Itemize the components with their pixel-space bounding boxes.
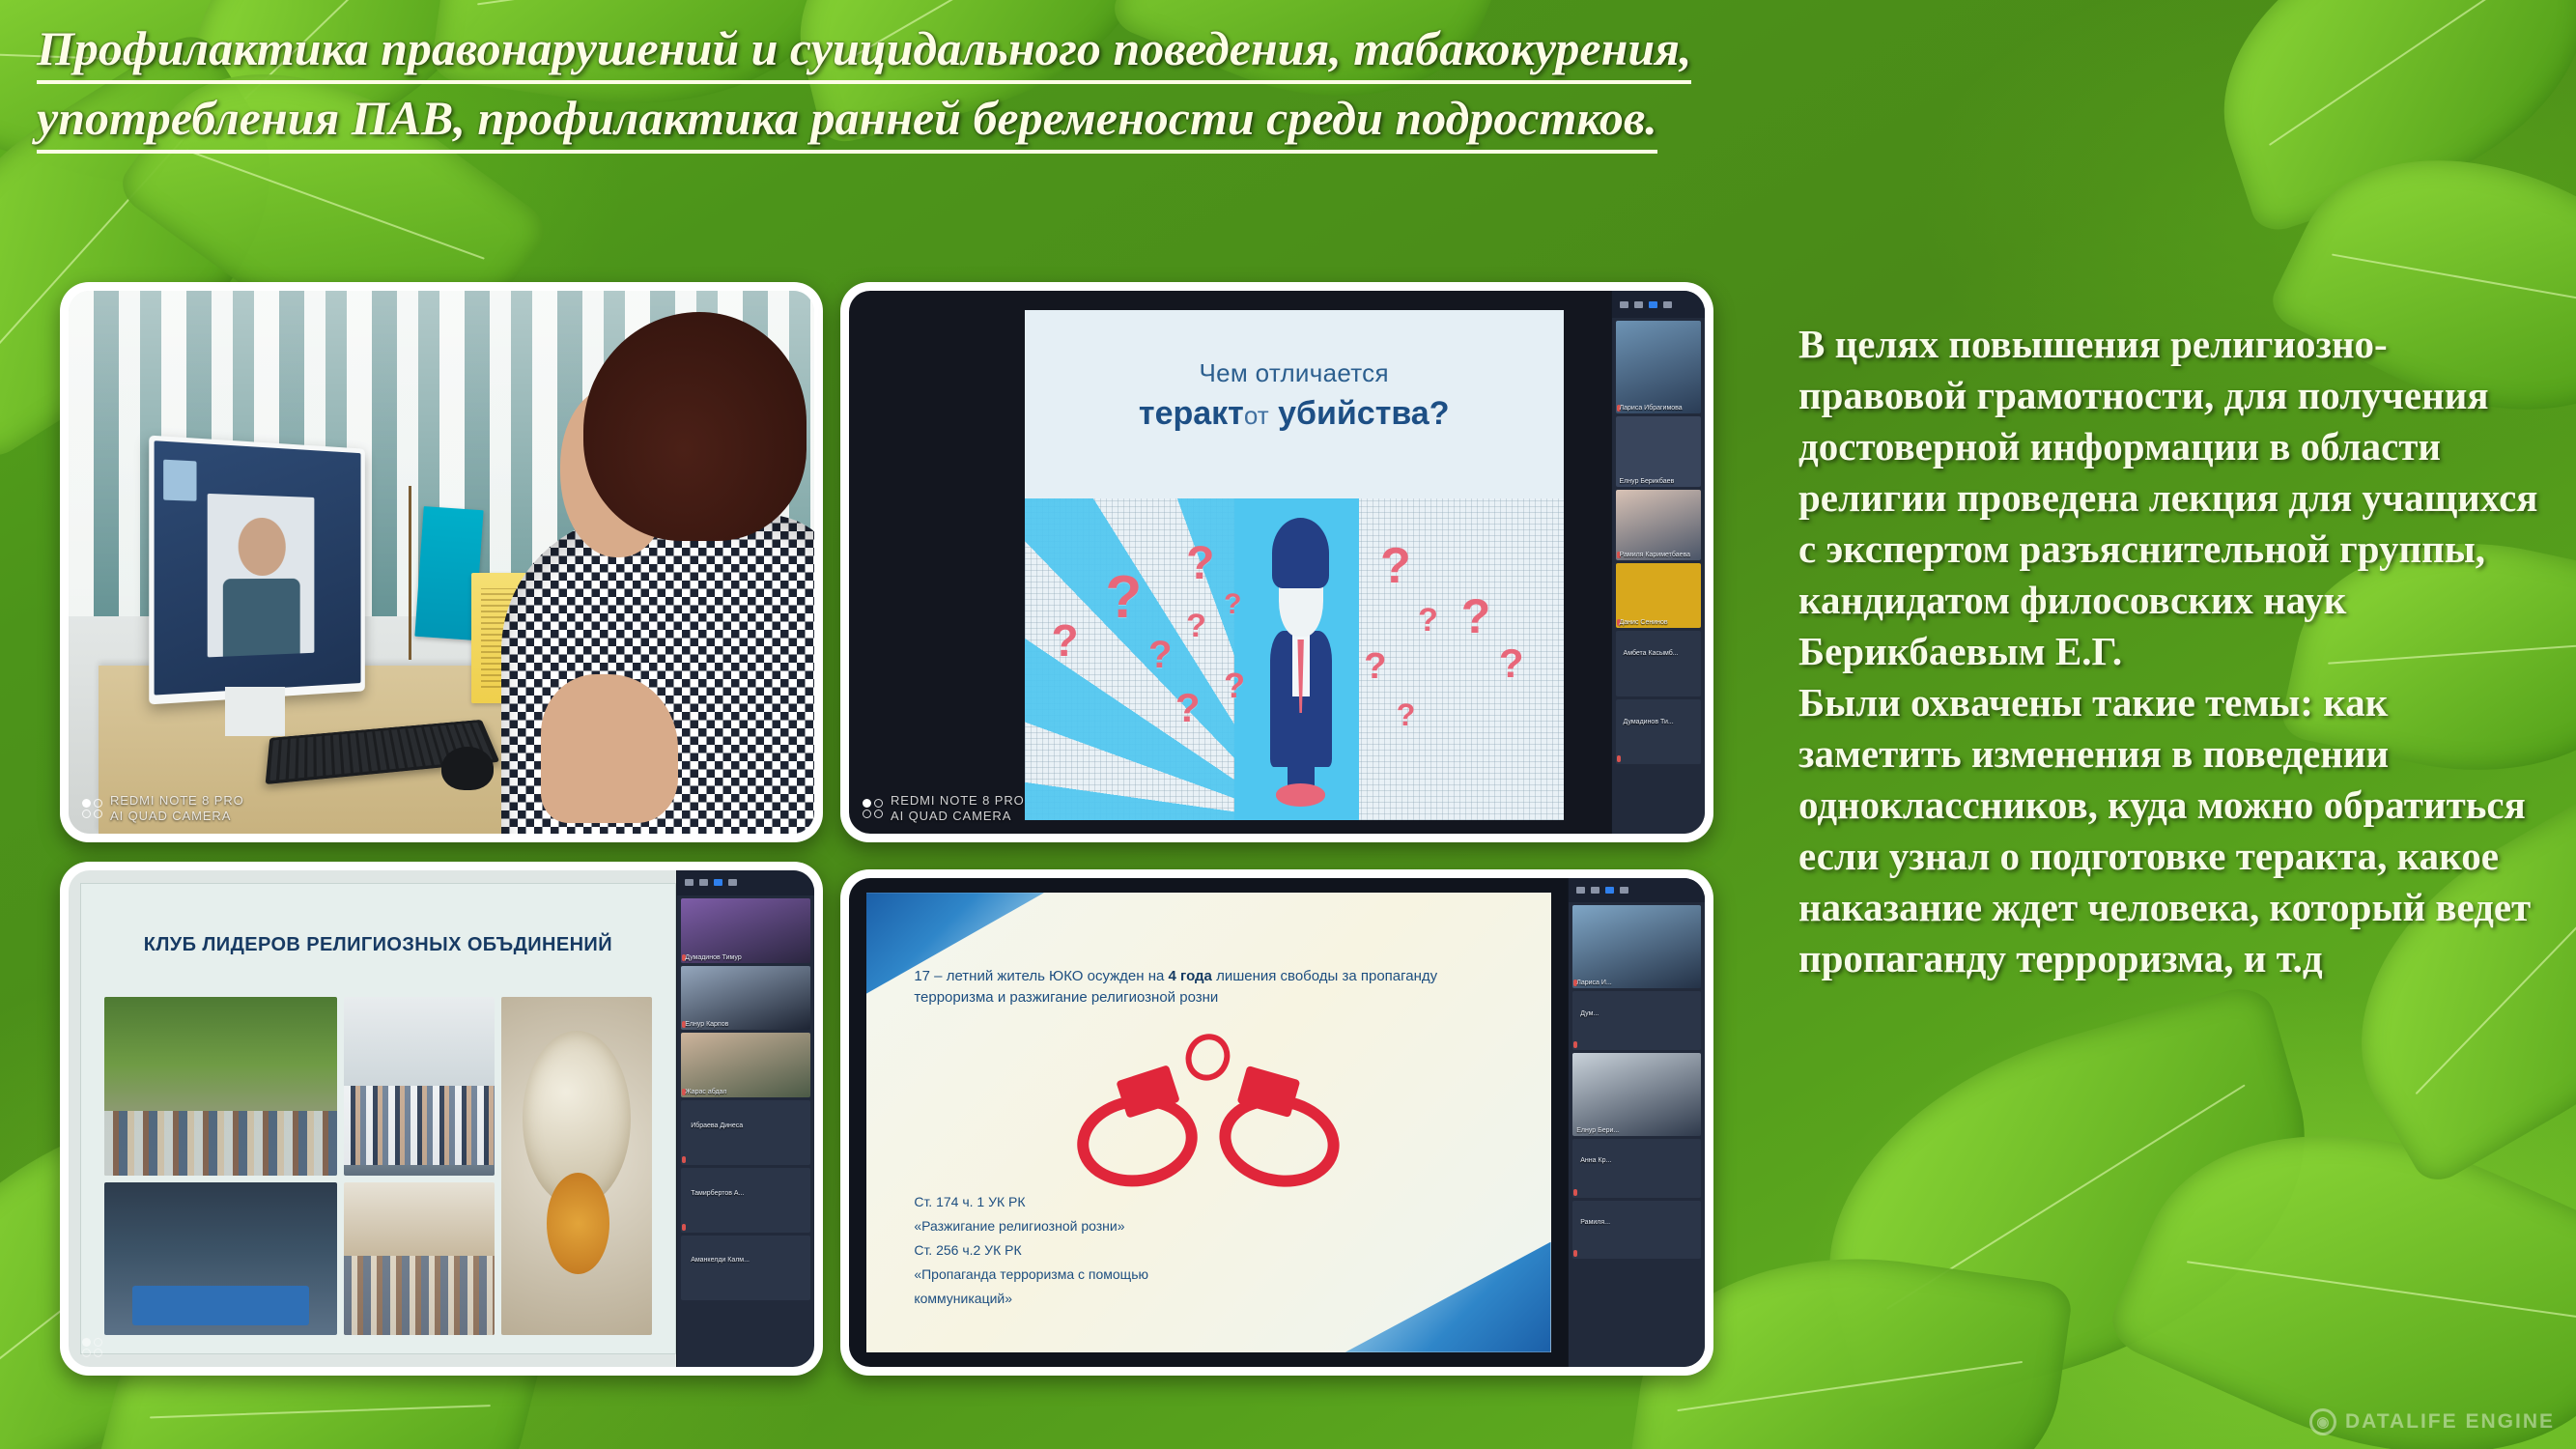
participant-tile[interactable]: Елнур Бери...: [1572, 1053, 1701, 1136]
camera-watermark: [82, 1338, 102, 1357]
legal-article: «Разжигание религиозной розни»: [914, 1214, 1461, 1238]
video-participants-panel: Думадинов Тимур Елнур Карпов Жарас абдал: [676, 870, 814, 1367]
participant-name: Думадинов Тимур: [685, 954, 742, 961]
participant-name: Аманкелди Калм...: [691, 1257, 750, 1264]
participant-tile[interactable]: Амбета Касымб...: [1616, 631, 1701, 696]
page-title-line-2: употребления ПАВ, профилактика ранней бе…: [37, 91, 1657, 154]
camera-watermark-mode: AI QUAD CAMERA: [891, 809, 1011, 823]
collage-photo: [344, 997, 495, 1177]
video-toolbar[interactable]: [1569, 878, 1705, 902]
participant-tile[interactable]: Данис Сенинов: [1616, 563, 1701, 628]
participant-tile[interactable]: Дум...: [1572, 991, 1701, 1050]
participant-tile[interactable]: Елнур Карпов: [681, 966, 810, 1031]
computer-monitor: [149, 436, 364, 705]
camera-watermark-model: REDMI NOTE 8 PRO: [110, 793, 244, 808]
participant-tile[interactable]: Анна Кр...: [1572, 1139, 1701, 1198]
office-photo: [69, 291, 814, 834]
participant-tile[interactable]: Тамирбертов А...: [681, 1168, 810, 1233]
video-participants-panel: Лариса И... Дум... Елнур Бери... Анна Кр…: [1568, 878, 1705, 1367]
remote-participant-video: [208, 494, 315, 658]
collage-photo: [104, 1182, 337, 1334]
camera-watermark-mode: AI QUAD CAMERA: [110, 809, 231, 823]
body-paragraph-1: В целях повышения религиозно-правовой гр…: [1798, 319, 2552, 677]
participant-tile[interactable]: Ибраева Динеса: [681, 1100, 810, 1165]
presentation-slide-terrorism: Чем отличается терактот убийства? ? ? ? …: [1025, 310, 1564, 820]
mic-muted-icon: [1573, 1189, 1577, 1196]
datalife-logo-icon: ◉: [2309, 1408, 2336, 1435]
participant-tile[interactable]: Лариса Ибрагимова: [1616, 321, 1701, 413]
participant-tile[interactable]: Лариса И...: [1572, 905, 1701, 988]
sentence-slide-heading: 17 – летний житель ЮКО осужден на 4 года…: [914, 966, 1475, 1009]
participant-name: Думадинов Ти...: [1624, 719, 1674, 725]
participant-name: Рамиля...: [1580, 1219, 1610, 1226]
participant-name: Данис Сенинов: [1620, 619, 1668, 626]
camera-watermark: REDMI NOTE 8 PRO AI QUAD CAMERA: [82, 793, 244, 824]
camera-watermark-model: REDMI NOTE 8 PRO: [891, 793, 1025, 808]
participant-name: Рамиля Кариметбаева: [1620, 552, 1691, 558]
participant-name: Жарас абдал: [685, 1089, 726, 1095]
leaf-decoration: [1782, 980, 2353, 1426]
participant-name: Анна Кр...: [1580, 1157, 1611, 1164]
participant-name: Дум...: [1580, 1010, 1599, 1017]
tv-screen-photo: Чем отличается терактот убийства? ? ? ? …: [849, 291, 1705, 834]
mic-muted-icon: [1573, 1250, 1577, 1257]
participant-name: Ибраева Динеса: [691, 1122, 743, 1129]
club-slide-title: КЛУБ ЛИДЕРОВ РЕЛИГИОЗНЫХ ОБЪДИНЕНИЙ: [81, 884, 676, 956]
legal-article: «Пропаганда терроризма с помощью: [914, 1263, 1461, 1287]
participant-tile[interactable]: Думадинов Ти...: [1616, 699, 1701, 764]
legal-article: коммуникаций»: [914, 1287, 1461, 1311]
slide-canvas: Профилактика правонарушений и суицидальн…: [0, 0, 2576, 1449]
screen-photo: 17 – летний житель ЮКО осужден на 4 года…: [849, 878, 1705, 1367]
slide-heading-line2: терактот убийства?: [1025, 395, 1564, 433]
flag-pole: [409, 486, 411, 660]
video-toolbar[interactable]: [1612, 291, 1705, 318]
legal-article: Ст. 256 ч.2 УК РК: [914, 1238, 1461, 1263]
body-text-column: В целях повышения религиозно-правовой гр…: [1798, 319, 2552, 984]
participant-tile[interactable]: Думадинов Тимур: [681, 898, 810, 963]
participant-tile[interactable]: Елнур Берикбаев: [1616, 416, 1701, 487]
participant-name: Елнур Бери...: [1576, 1127, 1619, 1134]
video-participants-panel: Лариса Ибрагимова Елнур Берикбаев Рамиля…: [1611, 291, 1705, 834]
photo-panel-top-left: REDMI NOTE 8 PRO AI QUAD CAMERA: [60, 282, 823, 842]
collage-photo: [344, 1182, 495, 1334]
participant-name: Елнур Карпов: [685, 1021, 728, 1028]
mic-muted-icon: [1617, 755, 1621, 762]
leaf-decoration: [2103, 1055, 2576, 1449]
participant-name: Лариса Ибрагимова: [1620, 405, 1683, 412]
burst-background: ? ? ? ? ? ? ? ? ? ? ? ? ?: [1025, 498, 1564, 820]
mouse: [441, 747, 494, 790]
laptop-screen-photo: КЛУБ ЛИДЕРОВ РЕЛИГИОЗНЫХ ОБЪДИНЕНИЙ: [69, 870, 814, 1367]
photo-panel-bottom-right: 17 – летний житель ЮКО осужден на 4 года…: [840, 869, 1713, 1376]
participant-name: Лариса И...: [1576, 980, 1612, 986]
participant-tile[interactable]: Жарас абдал: [681, 1033, 810, 1097]
presentation-slide-club: КЛУБ ЛИДЕРОВ РЕЛИГИОЗНЫХ ОБЪДИНЕНИЙ: [80, 883, 677, 1354]
camera-lens-icon: [82, 1338, 102, 1357]
body-paragraph-2: Были охвачены такие темы: как заметить и…: [1798, 677, 2552, 984]
participant-tile[interactable]: Рамиля...: [1572, 1201, 1701, 1260]
legal-article: Ст. 174 ч. 1 УК РК: [914, 1190, 1461, 1214]
participant-tile[interactable]: Аманкелди Калм...: [681, 1236, 810, 1300]
site-watermark: ◉ DATALIFE ENGINE: [2309, 1408, 2555, 1435]
collage-photo: [501, 997, 652, 1335]
participant-name: Амбета Касымб...: [1624, 650, 1679, 657]
presentation-slide-sentence: 17 – летний житель ЮКО осужден на 4 года…: [866, 893, 1551, 1352]
mic-muted-icon: [682, 1156, 686, 1163]
confused-man-illustration: [1270, 518, 1332, 801]
monitor-stand: [225, 687, 285, 736]
legal-articles-list: Ст. 174 ч. 1 УК РК «Разжигание религиозн…: [914, 1190, 1461, 1311]
photo-collage: [104, 997, 651, 1335]
photo-panel-top-right: Чем отличается терактот убийства? ? ? ? …: [840, 282, 1713, 842]
watermark-text: DATALIFE ENGINE: [2345, 1410, 2555, 1434]
collage-photo: [104, 997, 337, 1177]
handcuffs-icon: [1071, 1039, 1345, 1186]
camera-lens-icon: [82, 799, 102, 818]
participant-name: Тамирбертов А...: [691, 1190, 744, 1197]
page-title: Профилактика правонарушений и суицидальн…: [37, 21, 2374, 160]
mic-muted-icon: [1573, 1041, 1577, 1048]
photo-grid: REDMI NOTE 8 PRO AI QUAD CAMERA Чем отли…: [60, 282, 1713, 1376]
video-thumbnail: [163, 459, 197, 500]
camera-lens-icon: [863, 799, 883, 818]
slide-heading-line1: Чем отличается: [1025, 358, 1564, 388]
teacher-person: [501, 312, 814, 834]
camera-watermark: REDMI NOTE 8 PRO AI QUAD CAMERA: [863, 793, 1025, 824]
mic-muted-icon: [682, 1224, 686, 1231]
participant-tile[interactable]: Рамиля Кариметбаева: [1616, 490, 1701, 560]
photo-panel-bottom-left: КЛУБ ЛИДЕРОВ РЕЛИГИОЗНЫХ ОБЪДИНЕНИЙ: [60, 862, 823, 1376]
participant-name: Елнур Берикбаев: [1620, 478, 1675, 485]
video-toolbar[interactable]: [677, 870, 814, 895]
page-title-line-1: Профилактика правонарушений и суицидальн…: [37, 21, 1691, 84]
